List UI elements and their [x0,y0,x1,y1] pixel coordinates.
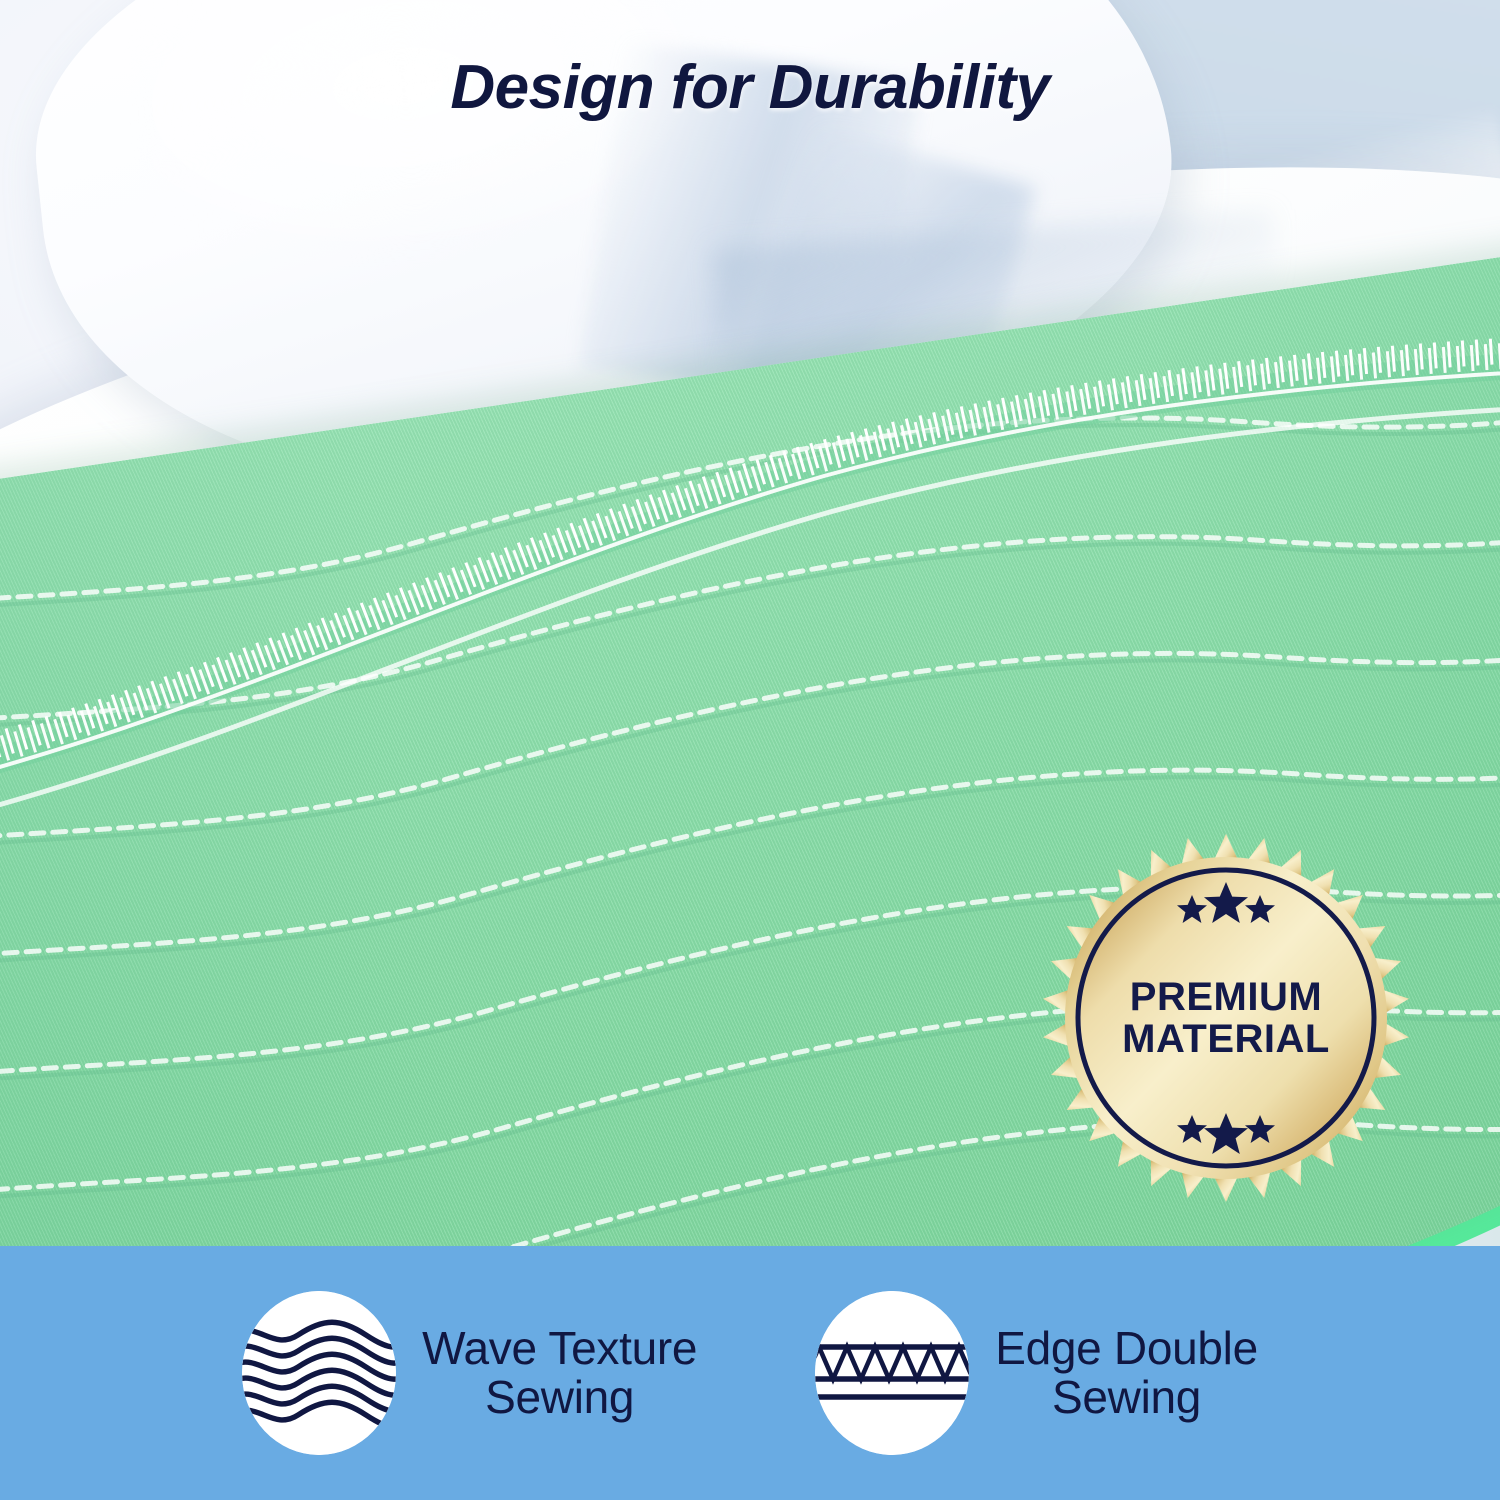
feature-label-edge-double-sewing: Edge Double Sewing [995,1324,1258,1422]
feature-wave-texture-sewing: Wave Texture Sewing [242,1291,697,1455]
feature-label-wave-texture-sewing: Wave Texture Sewing [422,1324,697,1422]
premium-material-badge: PREMIUM MATERIAL [1040,832,1412,1204]
wave-stitch-icon [242,1291,396,1455]
feature-footer-bar: Wave Texture Sewing Edge Double Sewing [0,1246,1500,1500]
zigzag-stitch-icon [815,1291,969,1455]
edge-zigzag-serging [0,300,1500,820]
product-feature-poster: Design for Durability [0,0,1500,1500]
seal-graphic [1040,832,1412,1204]
page-title: Design for Durability [0,52,1500,123]
feature-edge-double-sewing: Edge Double Sewing [815,1291,1258,1455]
